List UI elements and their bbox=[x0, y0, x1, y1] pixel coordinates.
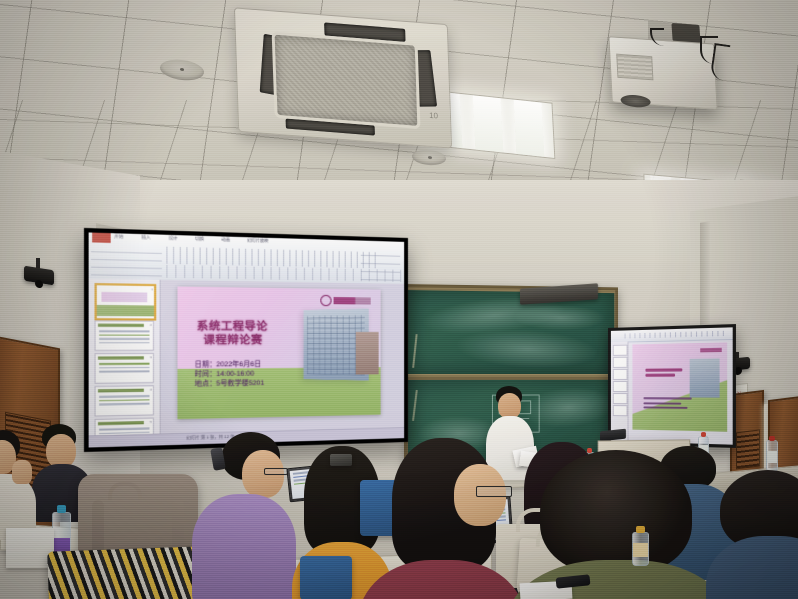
ribbon-tab-0[interactable]: 开始 bbox=[114, 233, 123, 243]
slide-building-right bbox=[690, 359, 719, 398]
ribbon-tab-3[interactable]: 切换 bbox=[195, 236, 204, 246]
slide-thumbnail[interactable]: 3 bbox=[94, 353, 154, 384]
chalk-stick bbox=[413, 334, 418, 368]
powerpoint-workspace: 1 2 3 4 bbox=[89, 279, 404, 448]
backpack-handle bbox=[108, 482, 142, 500]
door-louver bbox=[736, 430, 760, 470]
chair-back bbox=[300, 556, 352, 599]
chalk-rail bbox=[408, 374, 614, 379]
logo-mark-icon bbox=[320, 295, 331, 306]
slide-thumbnail[interactable]: 2 bbox=[94, 320, 154, 351]
slide-university-logo bbox=[320, 295, 371, 307]
ribbon-clipboard-group[interactable] bbox=[91, 245, 162, 277]
ribbon-file-tab[interactable] bbox=[92, 233, 111, 243]
slide-canvas[interactable]: 系统工程导论 课程辩论赛 日期：2022年6月6日 时间：14:00-16:00… bbox=[177, 286, 380, 419]
slide-building-photo-secondary bbox=[356, 332, 379, 375]
ceiling-air-conditioner: 10 bbox=[234, 7, 452, 148]
bottle-cap bbox=[769, 436, 775, 441]
bottle-cap bbox=[701, 432, 706, 437]
bottle-cap bbox=[57, 505, 67, 513]
ribbon-tab-1[interactable]: 插入 bbox=[142, 234, 151, 244]
thumbnail-number: 5 bbox=[150, 420, 152, 424]
thumbnail-header bbox=[98, 356, 144, 359]
ribbon-tab-5[interactable]: 幻灯片放映 bbox=[247, 237, 268, 247]
thumbnail-header bbox=[98, 421, 144, 425]
slide-place: 地点：5号教学楼5201 bbox=[195, 379, 265, 389]
powerpoint-ribbon-right bbox=[611, 327, 733, 343]
student-4-glasses bbox=[476, 486, 512, 497]
water-bottle bbox=[632, 532, 649, 566]
projected-desktop: 开始 插入 设计 切换 动画 幻灯片放映 1 bbox=[89, 232, 404, 447]
thumbnail-green-band bbox=[97, 305, 154, 316]
slide-details: 日期：2022年6月6日 时间：14:00-16:00 地点：5号教学楼5201 bbox=[195, 360, 265, 389]
projected-desktop-right bbox=[611, 327, 733, 444]
projection-screen-left: 开始 插入 设计 切换 动画 幻灯片放映 1 bbox=[84, 228, 408, 452]
slide-thumbnail[interactable]: 1 bbox=[94, 283, 156, 321]
chalk-smear bbox=[454, 325, 599, 371]
slide-title-right bbox=[645, 368, 682, 379]
slide-thumbnail[interactable]: 4 bbox=[94, 385, 154, 416]
chalk-smear bbox=[513, 305, 606, 330]
classroom-photo: 10 ⇲ bbox=[0, 0, 798, 599]
thumbnail-number: 2 bbox=[150, 323, 152, 327]
slide-thumbnail-pane[interactable]: 1 2 3 4 bbox=[89, 279, 161, 448]
projector-vent bbox=[616, 54, 653, 81]
thumbnail-lines bbox=[99, 330, 149, 345]
slide-title-line-2: 课程辩论赛 bbox=[203, 334, 300, 348]
thumbnail-number: 3 bbox=[150, 355, 152, 359]
ac-label: 10 bbox=[429, 111, 438, 121]
blackboard-panel-top bbox=[408, 290, 614, 374]
bottle-label bbox=[767, 451, 777, 464]
water-bottle bbox=[766, 440, 778, 472]
student-0-hand bbox=[12, 460, 32, 484]
thumbnail-number: 1 bbox=[151, 287, 153, 291]
student-2-glasses bbox=[264, 468, 288, 475]
thumbnail-title-band bbox=[101, 292, 147, 302]
ribbon-tab-4[interactable]: 动画 bbox=[221, 236, 230, 246]
chalk-diagram bbox=[519, 401, 531, 414]
slide-title-line-1: 系统工程导论 bbox=[197, 320, 300, 334]
student-1-head bbox=[46, 434, 76, 468]
ribbon-tab-2[interactable]: 设计 bbox=[169, 235, 178, 245]
thumbnail-header bbox=[98, 324, 144, 327]
thumbnail-lines bbox=[99, 395, 149, 407]
thumbnail-header bbox=[98, 389, 144, 393]
thumbnail-number: 4 bbox=[150, 387, 152, 391]
slide-logo-right bbox=[700, 348, 722, 353]
bottle-cap bbox=[636, 526, 644, 533]
slide-canvas-right bbox=[632, 342, 727, 431]
ac-filter-grille bbox=[272, 31, 421, 129]
hair-clip bbox=[330, 454, 352, 466]
slide-thumbnail-pane-right[interactable] bbox=[611, 342, 629, 442]
slide-title: 系统工程导论 课程辩论赛 bbox=[197, 320, 300, 348]
student-6-hair bbox=[540, 450, 692, 574]
ribbon-editing-group[interactable] bbox=[361, 254, 400, 281]
projection-screen-right bbox=[608, 324, 736, 448]
student-2-torso bbox=[192, 494, 296, 599]
thumbnail-lines bbox=[99, 363, 149, 375]
powerpoint-ribbon: 开始 插入 设计 切换 动画 幻灯片放映 bbox=[89, 232, 404, 284]
slide-details-right bbox=[643, 397, 692, 411]
logo-wordmark bbox=[333, 297, 371, 305]
bottle-label bbox=[633, 543, 648, 556]
chalk-stick bbox=[413, 390, 419, 421]
